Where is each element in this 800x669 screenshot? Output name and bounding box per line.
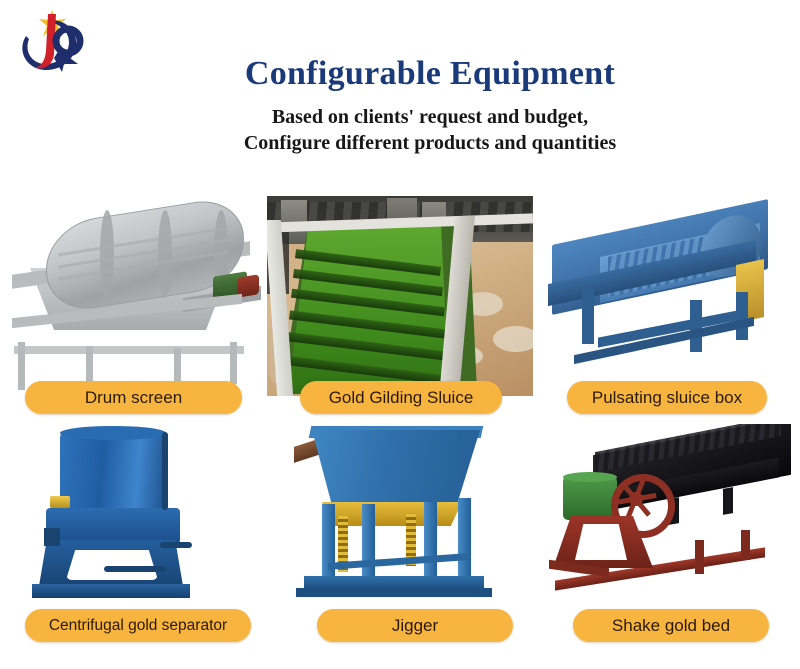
product-card-jigger[interactable]: Jigger <box>288 424 536 624</box>
product-card-pulsating-sluice-box[interactable]: Pulsating sluice box <box>540 196 792 396</box>
product-card-shake-gold-bed[interactable]: Shake gold bed <box>545 424 795 624</box>
page-header: Configurable Equipment Based on clients'… <box>150 55 710 157</box>
product-label-pulsating-sluice-box: Pulsating sluice box <box>567 381 767 414</box>
subtitle-line-1: Based on clients' request and budget, <box>150 105 710 131</box>
product-label-jigger: Jigger <box>317 609 513 642</box>
centrifugal-gold-separator-photo <box>8 424 264 624</box>
product-card-centrifugal-gold-separator[interactable]: Centrifugal gold separator <box>8 424 264 624</box>
product-card-drum-screen[interactable]: Drum screen <box>8 196 264 396</box>
shake-gold-bed-photo <box>545 424 795 624</box>
product-label-gold-gilding-sluice: Gold Gilding Sluice <box>300 381 502 414</box>
pulsating-sluice-box-photo <box>540 196 792 396</box>
product-card-gold-gilding-sluice[interactable]: Gold Gilding Sluice <box>267 196 533 396</box>
page-subtitle: Based on clients' request and budget, Co… <box>150 105 710 156</box>
product-label-shake-gold-bed: Shake gold bed <box>573 609 769 642</box>
jigger-photo <box>288 424 536 624</box>
gold-gilding-sluice-photo <box>267 196 533 396</box>
product-label-centrifugal-gold-separator: Centrifugal gold separator <box>25 609 251 642</box>
jq-monogram-logo <box>12 8 90 80</box>
subtitle-line-2: Configure different products and quantit… <box>150 131 710 157</box>
page-title: Configurable Equipment <box>150 55 710 92</box>
product-label-drum-screen: Drum screen <box>25 381 242 414</box>
drum-screen-photo <box>8 196 264 396</box>
